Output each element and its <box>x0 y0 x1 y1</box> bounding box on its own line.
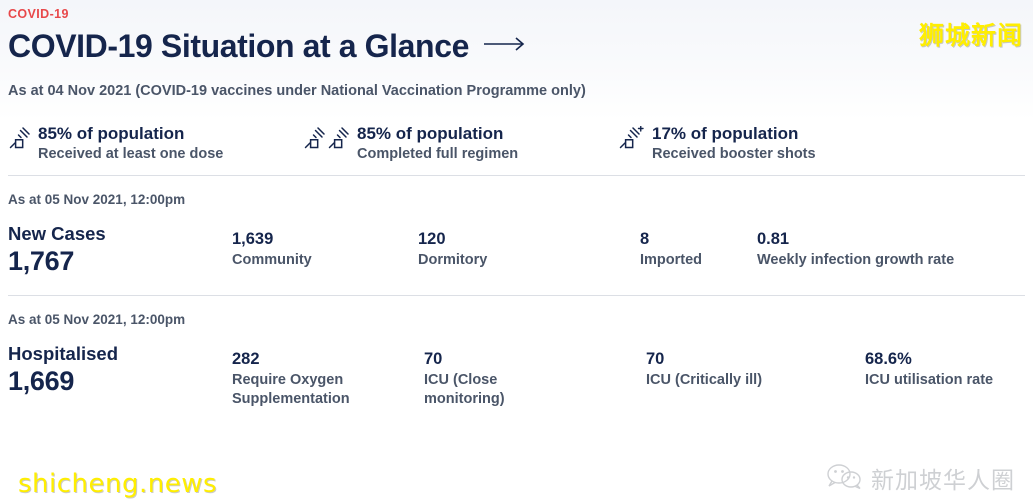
hospitalised-row: Hospitalised 1,669 282 Require Oxygen Su… <box>8 343 1025 415</box>
stat-cell-icu-close: 70 ICU (Close monitoring) <box>424 349 534 409</box>
vaccination-item-full-regimen: 85% of population Completed full regimen <box>303 123 618 175</box>
vaccination-text: 17% of population Received booster shots <box>652 123 816 164</box>
stat-cell-imported: 8 Imported <box>640 229 750 270</box>
stat-value: 1,639 <box>232 229 412 250</box>
stat-value: 0.81 <box>757 229 1027 250</box>
vaccination-headline: 85% of population <box>357 124 503 143</box>
stat-value: 282 <box>232 349 412 370</box>
stat-value: 8 <box>640 229 750 250</box>
covid-situation-page: COVID-19 COVID-19 Situation at a Glance … <box>0 0 1033 415</box>
new-cases-timestamp: As at 05 Nov 2021, 12:00pm <box>8 176 1025 207</box>
stat-cell-icu-utilisation: 68.6% ICU utilisation rate <box>865 349 1033 390</box>
stat-label: ICU utilisation rate <box>865 371 1033 390</box>
stat-value: 68.6% <box>865 349 1033 370</box>
stat-label: ICU (Close monitoring) <box>424 371 534 409</box>
title-row: COVID-19 Situation at a Glance <box>8 29 1025 64</box>
stat-label: Dormitory <box>418 251 618 270</box>
vaccination-item-booster: 17% of population Received booster shots <box>618 123 918 175</box>
new-cases-main: New Cases 1,767 <box>8 223 106 277</box>
stat-label: ICU (Critically ill) <box>646 371 826 390</box>
new-cases-label: New Cases <box>8 223 106 244</box>
wechat-icon <box>826 462 862 495</box>
syringe-icon <box>8 123 30 150</box>
hospitalised-main: Hospitalised 1,669 <box>8 343 118 397</box>
watermark-top-right: 狮城新闻 <box>919 16 1023 52</box>
stat-value: 70 <box>646 349 826 370</box>
stat-value: 120 <box>418 229 618 250</box>
hospitalised-timestamp: As at 05 Nov 2021, 12:00pm <box>8 296 1025 327</box>
hospitalised-value: 1,669 <box>8 366 118 397</box>
vaccination-headline: 85% of population <box>38 124 184 143</box>
vaccination-sublabel: Received booster shots <box>652 145 816 164</box>
new-cases-row: New Cases 1,767 1,639 Community 120 Dorm… <box>8 223 1025 295</box>
page-subtitle: As at 04 Nov 2021 (COVID-19 vaccines und… <box>8 83 1025 99</box>
vaccination-text: 85% of population Completed full regimen <box>357 123 518 164</box>
stat-cell-dormitory: 120 Dormitory <box>418 229 618 270</box>
stat-cell-growth-rate: 0.81 Weekly infection growth rate <box>757 229 1027 270</box>
page-title: COVID-19 Situation at a Glance <box>8 29 469 64</box>
stat-cell-oxygen: 282 Require Oxygen Supplementation <box>232 349 412 409</box>
stat-label: Imported <box>640 251 750 270</box>
vaccination-sublabel: Received at least one dose <box>38 145 223 164</box>
vaccination-item-first-dose: 85% of population Received at least one … <box>8 123 303 175</box>
vaccination-text: 85% of population Received at least one … <box>38 123 223 164</box>
wechat-watermark-text: 新加坡华人圈 <box>871 461 1015 495</box>
watermark-bottom-left: shicheng.news <box>18 469 217 499</box>
watermark-wechat: 新加坡华人圈 <box>826 461 1015 495</box>
vaccination-headline: 17% of population <box>652 124 798 143</box>
vaccination-sublabel: Completed full regimen <box>357 145 518 164</box>
stat-label: Weekly infection growth rate <box>757 251 1027 270</box>
stat-value: 70 <box>424 349 534 370</box>
stat-cell-community: 1,639 Community <box>232 229 412 270</box>
syringe-icon-double <box>303 123 349 150</box>
syringe-plus-icon <box>618 123 644 150</box>
eyebrow-label: COVID-19 <box>8 0 1025 21</box>
hospitalised-label: Hospitalised <box>8 343 118 364</box>
arrow-right-icon[interactable] <box>483 36 529 57</box>
vaccination-stats-row: 85% of population Received at least one … <box>8 123 1025 175</box>
stat-cell-icu-critical: 70 ICU (Critically ill) <box>646 349 826 390</box>
stat-label: Community <box>232 251 412 270</box>
new-cases-value: 1,767 <box>8 246 106 277</box>
stat-label: Require Oxygen Supplementation <box>232 371 412 409</box>
